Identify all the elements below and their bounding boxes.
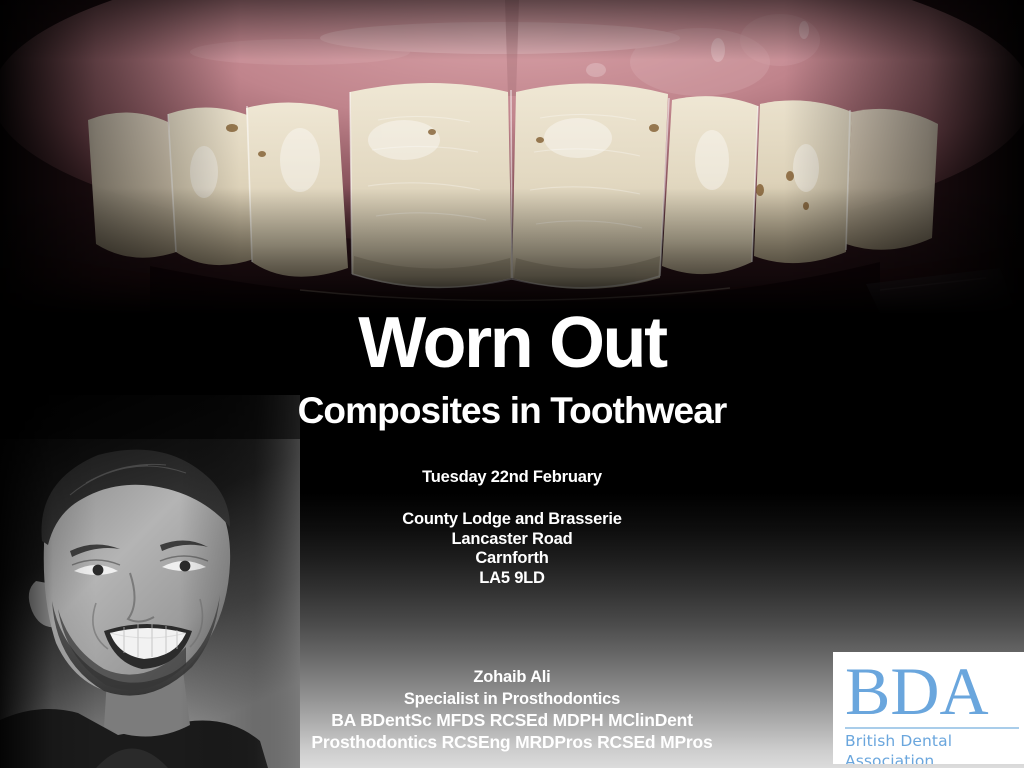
venue-postcode: LA5 9LD: [0, 569, 1024, 589]
venue-line-3: Carnforth: [0, 549, 1024, 569]
venue-address: County Lodge and Brasserie Lancaster Roa…: [0, 510, 1024, 588]
bda-tagline: British Dental Association: [845, 729, 1019, 764]
bda-wordmark: BDA: [845, 656, 1019, 726]
intraoral-toothwear-photograph: [0, 0, 1024, 313]
presentation-slide: Worn Out Composites in Toothwear Tuesday…: [0, 0, 1024, 768]
page-subtitle: Composites in Toothwear: [0, 391, 1024, 431]
venue-line-2: Lancaster Road: [0, 530, 1024, 550]
venue-line-1: County Lodge and Brasserie: [0, 510, 1024, 530]
page-title: Worn Out: [0, 305, 1024, 381]
event-date: Tuesday 22nd February: [0, 467, 1024, 487]
bda-logo: BDA British Dental Association: [833, 652, 1024, 764]
